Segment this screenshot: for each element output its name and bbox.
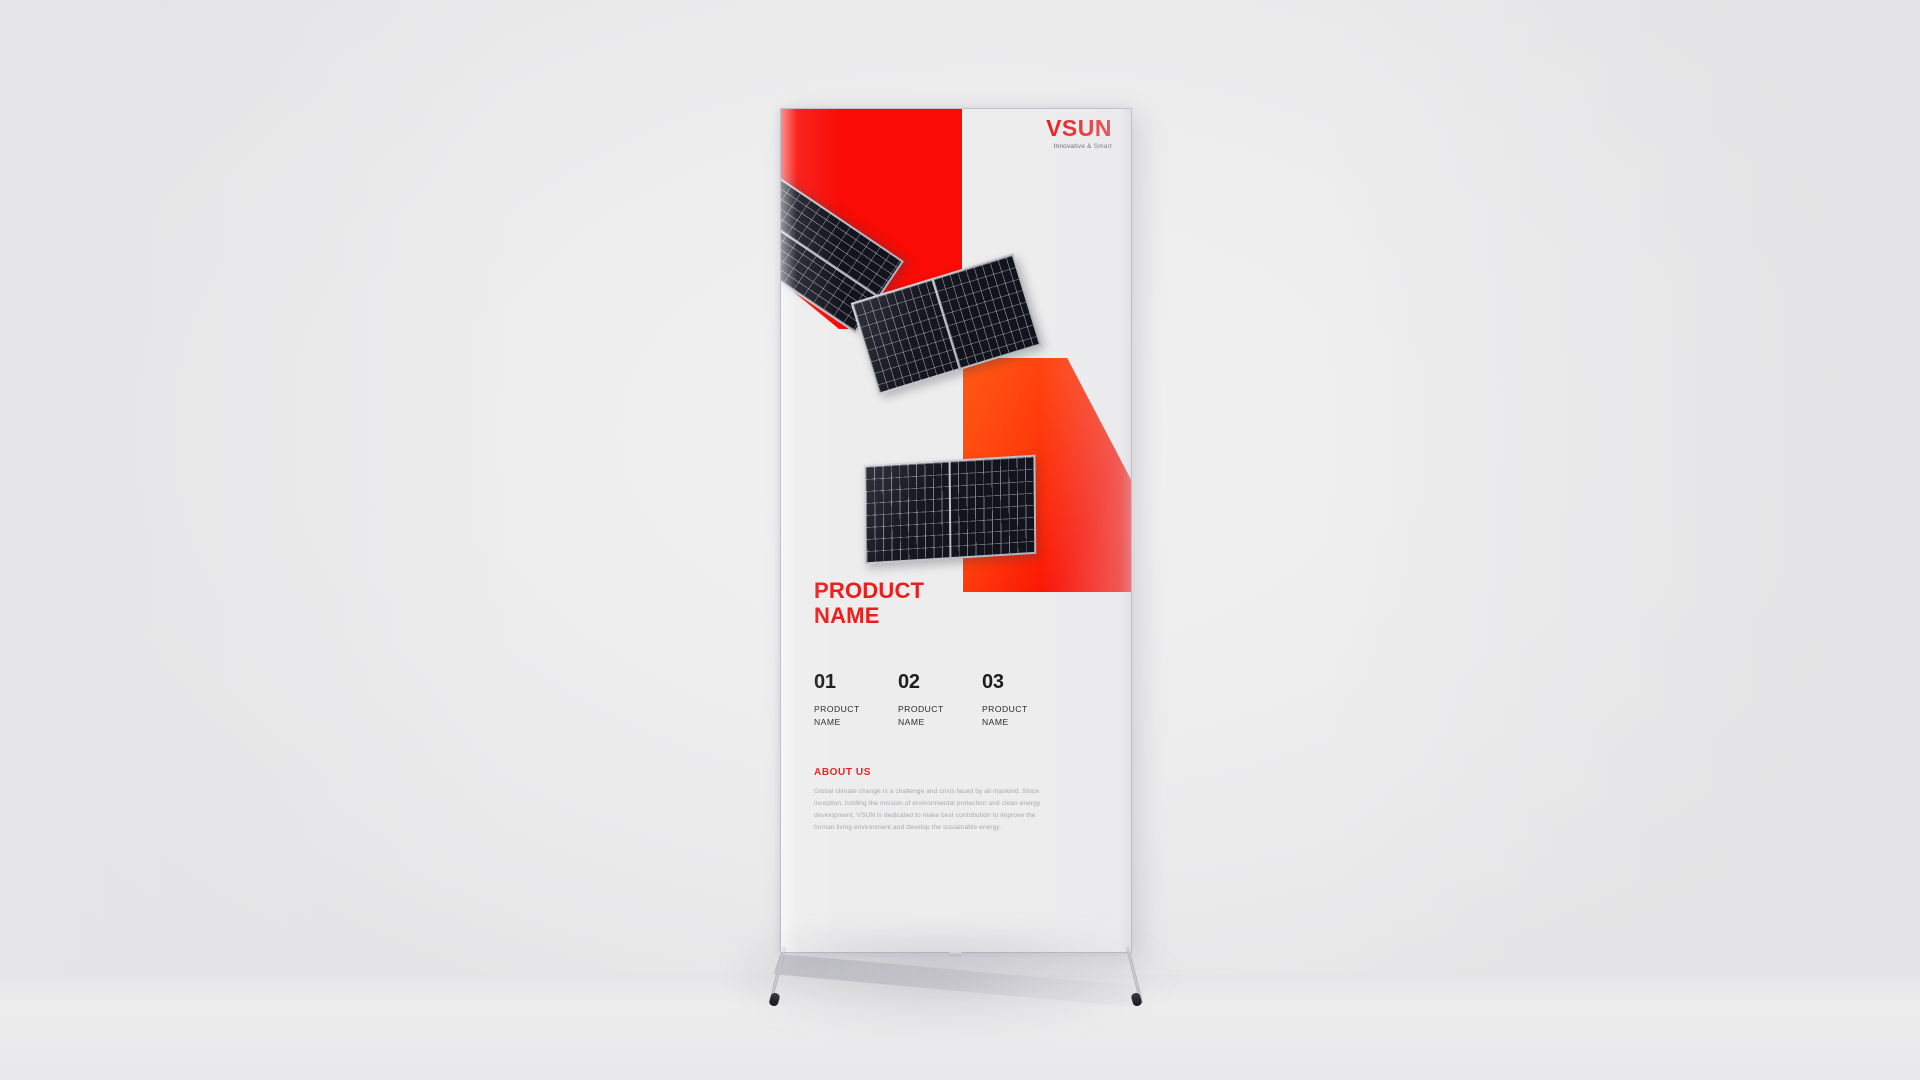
about-us-heading: ABOUT US <box>814 767 1104 778</box>
stand-pole-cap <box>949 952 962 956</box>
feature-list: 01 PRODUCT NAME 02 PRODUCT NAME <box>814 672 1104 728</box>
wall-shading-right <box>1320 0 1920 1080</box>
solar-panel-3 <box>864 455 1037 565</box>
feature-label-line-1: PRODUCT <box>814 703 898 715</box>
feature-label-line-2: NAME <box>898 716 982 728</box>
banner-text-content: PRODUCT NAME 01 PRODUCT NAME 02 P <box>814 579 1104 834</box>
feature-item-03: 03 PRODUCT NAME <box>982 672 1066 728</box>
feature-number: 02 <box>898 672 982 692</box>
feature-label-line-1: PRODUCT <box>982 703 1066 715</box>
feature-label: PRODUCT NAME <box>898 703 982 728</box>
feature-item-02: 02 PRODUCT NAME <box>898 672 982 728</box>
headline-line-2: NAME <box>814 604 1104 629</box>
feature-label-line-1: PRODUCT <box>898 703 982 715</box>
logo-tagline: Innovative & Smart <box>1046 144 1112 150</box>
feature-number: 01 <box>814 672 898 692</box>
vsun-logo: VSUN Innovative & Smart <box>1046 117 1112 150</box>
banner-print-face: VSUN Innovative & Smart <box>781 109 1131 952</box>
about-us-body: Global climate change is a challenge and… <box>814 786 1046 834</box>
feature-item-01: 01 PRODUCT NAME <box>814 672 898 728</box>
feature-number: 03 <box>982 672 1066 692</box>
studio-scene: VSUN Innovative & Smart <box>0 0 1920 1080</box>
roll-up-banner-stand: VSUN Innovative & Smart <box>781 109 1131 952</box>
page-title: PRODUCT NAME <box>814 579 1104 628</box>
feature-label-line-2: NAME <box>982 716 1066 728</box>
feature-label: PRODUCT NAME <box>814 703 898 728</box>
headline-line-1: PRODUCT <box>814 579 1104 604</box>
wall-shading-left <box>0 0 520 1080</box>
feature-label-line-2: NAME <box>814 716 898 728</box>
feature-label: PRODUCT NAME <box>982 703 1066 728</box>
logo-wordmark: VSUN <box>1046 117 1112 140</box>
